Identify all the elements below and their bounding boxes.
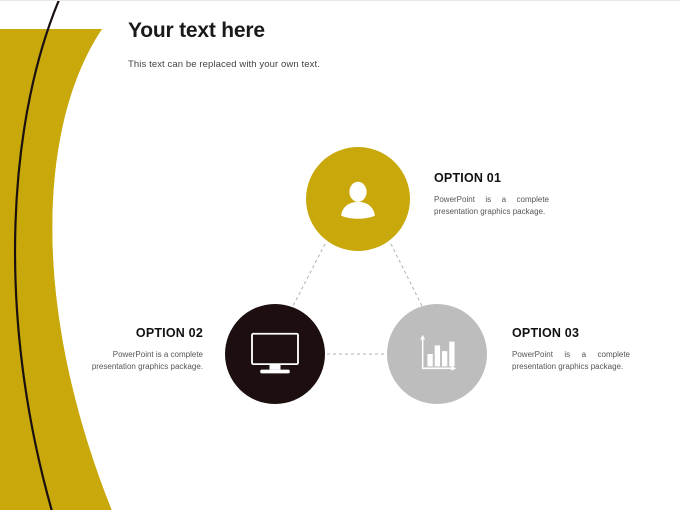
option-02-text-block: OPTION 02 PowerPoint is a complete prese… — [88, 326, 203, 372]
node-option-03[interactable] — [387, 304, 487, 404]
option-01-text-block: OPTION 01 PowerPoint is a complete prese… — [434, 171, 549, 217]
option-02-heading: OPTION 02 — [88, 326, 203, 340]
option-01-heading: OPTION 01 — [434, 171, 549, 185]
option-03-heading: OPTION 03 — [512, 326, 630, 340]
option-01-body: PowerPoint is a complete presentation gr… — [434, 194, 549, 217]
node-option-01[interactable] — [306, 147, 410, 251]
person-icon — [335, 176, 381, 222]
diagram-nodes — [0, 1, 680, 510]
option-03-text-block: OPTION 03 PowerPoint is a complete prese… — [512, 326, 630, 372]
option-02-body: PowerPoint is a complete presentation gr… — [88, 349, 203, 372]
monitor-icon — [249, 331, 301, 377]
slide-canvas: Your text here This text can be replaced… — [0, 0, 680, 510]
node-option-02[interactable] — [225, 304, 325, 404]
option-03-body: PowerPoint is a complete presentation gr… — [512, 349, 630, 372]
bar-chart-icon — [416, 333, 458, 375]
